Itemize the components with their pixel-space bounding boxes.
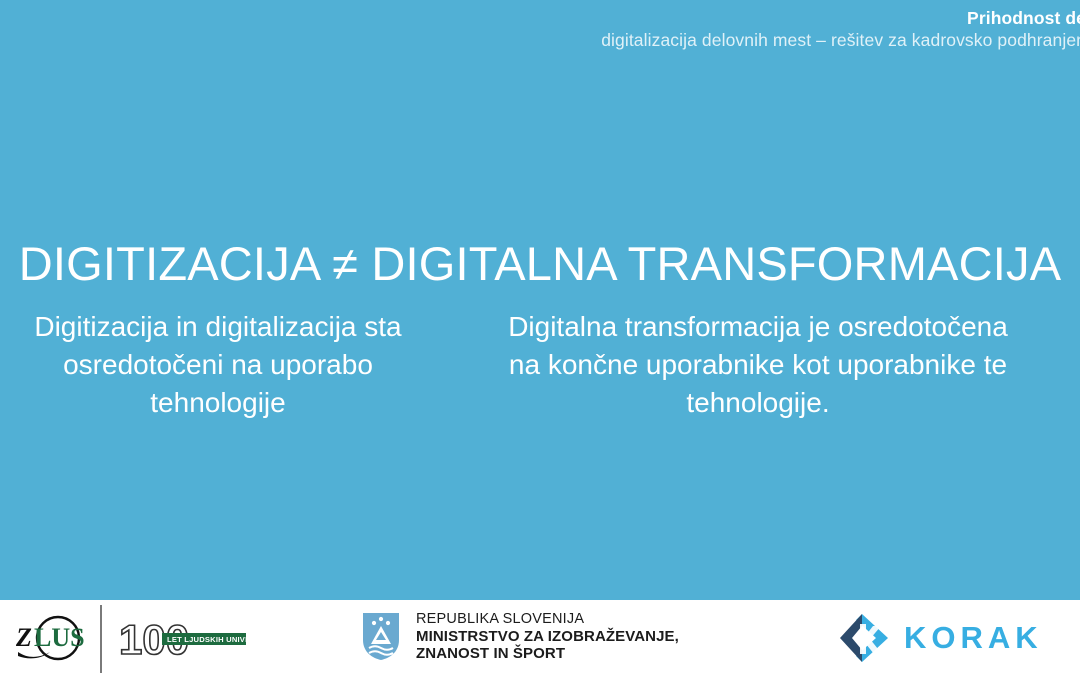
footer-divider	[100, 605, 102, 673]
header-title-line: Prihodnost de	[386, 8, 1080, 29]
ministry-country-label: REPUBLIKA SLOVENIJA	[416, 611, 679, 628]
presentation-slide: Prihodnost de digitalizacija delovnih me…	[0, 0, 1080, 675]
content-columns: Digitizacija in digitalizacija sta osred…	[0, 308, 1080, 422]
anniversary-band-text: LET LJUDSKIH UNIVERZ	[167, 635, 248, 644]
slovenia-coat-of-arms-icon	[360, 610, 402, 662]
ministry-text-block: REPUBLIKA SLOVENIJA MINISTRSTVO ZA IZOBR…	[416, 611, 679, 662]
zlus-letters-lus: LUS	[34, 623, 85, 652]
ministry-name-line-2: ZNANOST IN ŠPORT	[416, 645, 679, 662]
korak-wordmark: KORAK	[904, 620, 1043, 656]
zlus-logo-icon: Z LUS	[12, 614, 94, 664]
page-title: DIGITIZACIJA ≠ DIGITALNA TRANSFORMACIJA	[0, 236, 1080, 291]
korak-logo-group: KORAK	[836, 612, 1043, 664]
slide-background	[0, 0, 1080, 600]
header-subtitle-line: digitalizacija delovnih mest – rešitev z…	[386, 29, 1080, 52]
column-digitization-text: Digitizacija in digitalizacija sta osred…	[8, 308, 428, 422]
korak-mark-icon	[836, 612, 892, 664]
ministry-name-line-1: MINISTRSTVO ZA IZOBRAŽEVANJE,	[416, 628, 679, 645]
column-transformation-text: Digitalna transformacija je osredotočena…	[498, 308, 1018, 422]
slide-header: Prihodnost de digitalizacija delovnih me…	[386, 8, 1080, 52]
anniversary-100-logo-icon: 100 LET LJUDSKIH UNIVERZ	[118, 616, 248, 662]
ministry-logo-group: REPUBLIKA SLOVENIJA MINISTRSTVO ZA IZOBR…	[360, 610, 679, 662]
zlus-letter-z: Z	[15, 623, 32, 652]
